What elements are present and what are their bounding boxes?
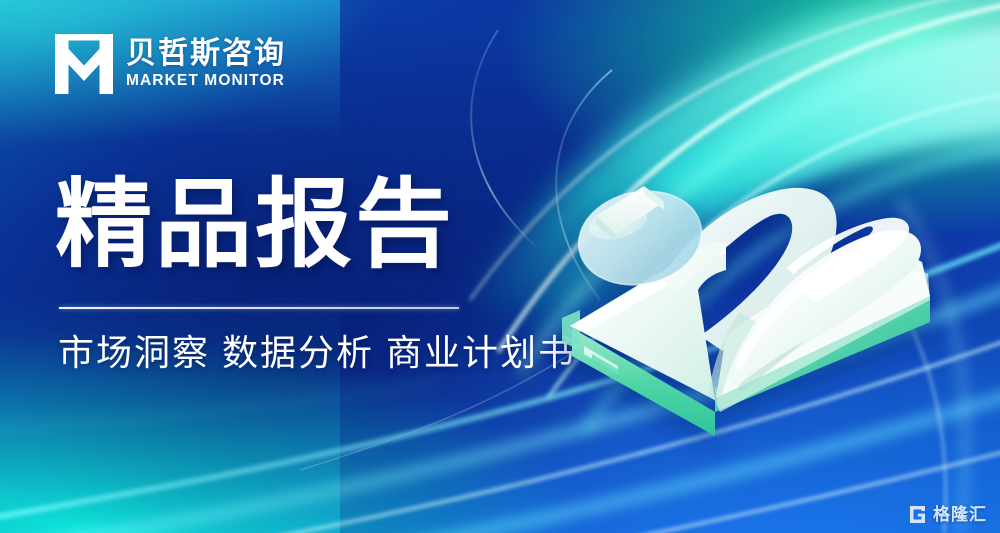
- market-monitor-m-logo-icon: [55, 34, 113, 94]
- brand-logo: 贝哲斯咨询 MARKET MONITOR: [55, 34, 286, 94]
- brand-name-cn: 贝哲斯咨询: [126, 39, 286, 69]
- open-book-illustration-icon: [540, 150, 960, 440]
- brand-wordmark: 贝哲斯咨询 MARKET MONITOR: [126, 39, 286, 89]
- title-divider: [59, 307, 459, 309]
- page-subtitle: 市场洞察 数据分析 商业计划书: [58, 330, 576, 375]
- watermark-label: 格隆汇: [933, 506, 987, 523]
- gelonghui-g-icon: [908, 505, 927, 524]
- report-banner: 贝哲斯咨询 MARKET MONITOR 精品报告 市场洞察 数据分析 商业计划…: [0, 0, 1000, 533]
- page-title: 精品报告: [55, 174, 455, 277]
- brand-name-en: MARKET MONITOR: [126, 73, 286, 89]
- watermark: 格隆汇: [908, 505, 987, 524]
